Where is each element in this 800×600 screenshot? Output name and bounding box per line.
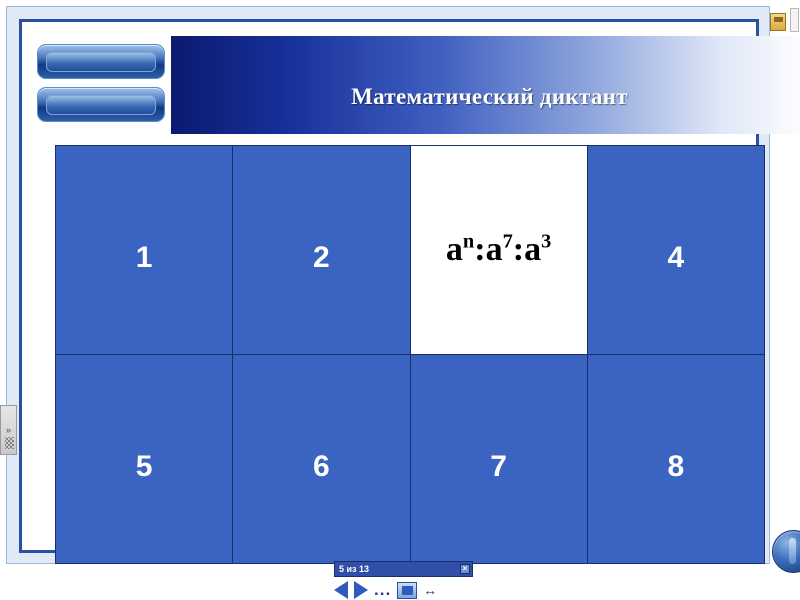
grid-cell-expression[interactable]: an:a7:a3 — [410, 146, 587, 355]
slide-outer-frame: Математический диктант 1 2 an:a7:a3 4 5 … — [6, 6, 770, 564]
previous-slide-icon[interactable] — [334, 581, 348, 599]
decorative-buttons-group — [37, 44, 165, 124]
fullscreen-icon[interactable] — [397, 582, 417, 599]
presentation-screen: Математический диктант 1 2 an:a7:a3 4 5 … — [0, 0, 800, 600]
slide-navigation-bar: ... ↔ — [334, 580, 473, 600]
close-icon[interactable]: × — [460, 564, 470, 574]
table-row: 5 6 7 8 — [56, 355, 765, 564]
side-panel-expand-handle[interactable]: » — [0, 405, 17, 455]
grid-cell-5[interactable]: 5 — [56, 355, 233, 564]
grip-dots-icon — [5, 437, 14, 449]
slide-title: Математический диктант — [171, 84, 800, 110]
decorative-button-bottom[interactable] — [37, 87, 165, 122]
slide-counter-popup: 5 из 13 × — [334, 561, 473, 577]
slide-inner-frame: Математический диктант 1 2 an:a7:a3 4 5 … — [19, 19, 759, 553]
grid-cell-8[interactable]: 8 — [587, 355, 764, 564]
title-banner: Математический диктант — [171, 36, 800, 134]
grid-cell-4[interactable]: 4 — [587, 146, 764, 355]
window-edge-strip — [790, 8, 799, 32]
slide-counter-label: 5 из 13 — [339, 564, 369, 574]
grid-cell-6[interactable]: 6 — [233, 355, 410, 564]
expression-text: an:a7:a3 — [446, 231, 551, 268]
next-slide-round-button[interactable] — [772, 530, 800, 573]
grid-cell-7[interactable]: 7 — [410, 355, 587, 564]
chevron-right-icon: » — [6, 426, 11, 435]
grid-cell-2[interactable]: 2 — [233, 146, 410, 355]
next-slide-icon[interactable] — [354, 581, 368, 599]
media-clip-icon[interactable] — [770, 13, 786, 31]
answers-grid: 1 2 an:a7:a3 4 5 6 7 8 — [55, 145, 765, 564]
resize-icon[interactable]: ↔ — [423, 584, 437, 596]
grid-cell-1[interactable]: 1 — [56, 146, 233, 355]
menu-dots-icon[interactable]: ... — [374, 584, 391, 596]
decorative-button-top[interactable] — [37, 44, 165, 79]
table-row: 1 2 an:a7:a3 4 — [56, 146, 765, 355]
